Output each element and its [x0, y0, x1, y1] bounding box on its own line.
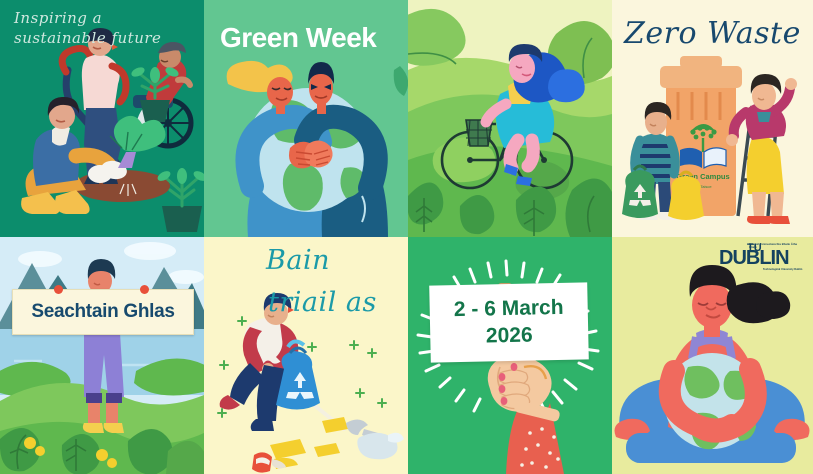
date-line2: 2026: [486, 322, 533, 349]
panel-caption-green-week: Green Week: [220, 22, 376, 54]
banner-pin-left: [54, 285, 63, 294]
panel-zero-waste: Green Campus An Taisce: [612, 0, 813, 237]
date-line1: 2 - 6 March: [454, 295, 564, 324]
panel-caption-bain-line2: triail as: [268, 285, 377, 321]
panel-tu-dublin: TU Ollscoil Teicneolaíochta Bhaile Átha …: [612, 237, 813, 474]
logo-english-name: Technological University Dublin: [763, 268, 805, 271]
cyclist-illustration: [408, 0, 612, 237]
collage-grid: Inspiring a sustainable future: [0, 0, 813, 474]
logo-wordmark: DUBLIN: [719, 249, 805, 268]
woman-hugging-globe-illustration: [612, 237, 813, 474]
panel-caption-bain-line1: Bain: [266, 243, 330, 279]
logo-t-mark: TU: [747, 242, 762, 254]
panel-caption-zero-waste: Zero Waste: [624, 14, 801, 55]
panel-inspiring-future: Inspiring a sustainable future: [0, 0, 204, 237]
panel-caption-inspiring: Inspiring a sustainable future: [14, 8, 194, 49]
panel-bain-triail-as: Bain triail as: [204, 237, 408, 474]
panel-caption-seachtain-ghlas: Seachtain Ghlas: [31, 301, 174, 323]
tu-dublin-logo: TU Ollscoil Teicneolaíochta Bhaile Átha …: [719, 243, 805, 272]
panel-dates: 2 - 6 March 2026: [408, 237, 612, 474]
landscape-sign-illustration: [0, 237, 204, 474]
panel-cycling: [408, 0, 612, 237]
panel-seachtain-ghlas: Seachtain Ghlas: [0, 237, 204, 474]
panel-green-week: Green Week: [204, 0, 408, 237]
seachtain-ghlas-banner: Seachtain Ghlas: [12, 289, 194, 335]
date-placard: 2 - 6 March 2026: [429, 282, 589, 362]
banner-pin-right: [140, 285, 149, 294]
